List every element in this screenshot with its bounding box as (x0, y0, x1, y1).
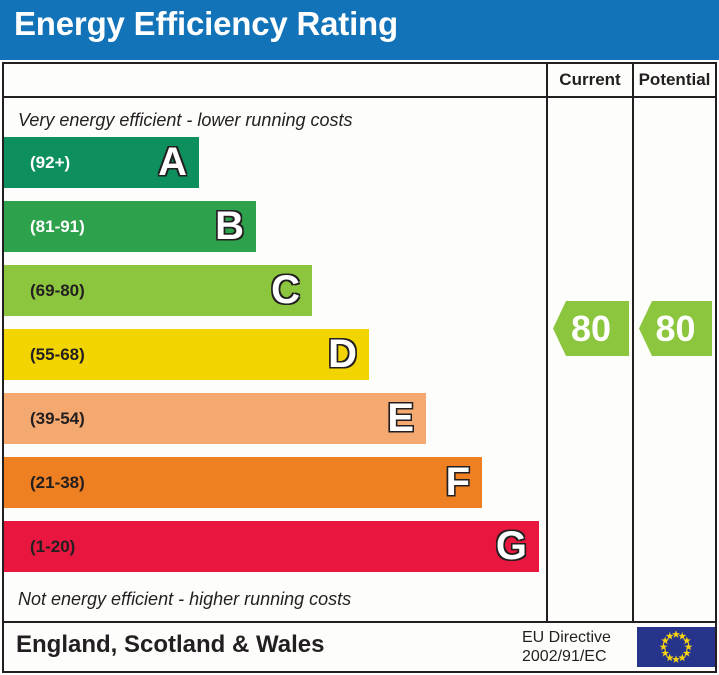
column-header-row: Current Potential (4, 64, 715, 98)
band-f: (21-38) F (4, 457, 482, 508)
band-c: (69-80) C (4, 265, 312, 316)
band-f-letter: F (446, 457, 470, 508)
title-bar: Energy Efficiency Rating (0, 0, 719, 60)
footer-directive: EU Directive 2002/91/EC (522, 628, 611, 666)
chart-frame: Current Potential Very energy efficient … (2, 62, 717, 673)
band-b-letter: B (215, 201, 244, 252)
column-divider-current (546, 98, 548, 625)
band-g-range: (1-20) (30, 521, 75, 572)
band-g: (1-20) G (4, 521, 539, 572)
band-e: (39-54) E (4, 393, 426, 444)
band-b-range: (81-91) (30, 201, 85, 252)
column-divider-potential (632, 98, 634, 625)
column-header-current: Current (546, 64, 632, 96)
potential-rating-badge: 80 (639, 301, 712, 356)
page-title: Energy Efficiency Rating (14, 5, 398, 43)
band-a-range: (92+) (30, 137, 70, 188)
energy-efficiency-rating-chart: Energy Efficiency Rating Current Potenti… (0, 0, 719, 675)
footer-region-label: England, Scotland & Wales (16, 631, 324, 659)
eu-flag-icon (637, 627, 715, 667)
band-d-range: (55-68) (30, 329, 85, 380)
band-e-range: (39-54) (30, 393, 85, 444)
caption-very-efficient: Very energy efficient - lower running co… (18, 110, 353, 131)
footer-bar: England, Scotland & Wales EU Directive 2… (4, 621, 715, 671)
band-f-range: (21-38) (30, 457, 85, 508)
band-c-letter: C (271, 265, 300, 316)
column-header-potential: Potential (632, 64, 715, 96)
band-a: (92+) A (4, 137, 199, 188)
footer-directive-line1: EU Directive (522, 628, 611, 647)
footer-directive-line2: 2002/91/EC (522, 647, 611, 666)
band-d: (55-68) D (4, 329, 369, 380)
rating-bands: (92+) A (81-91) B (69-80) C (55-68) D (3… (4, 137, 544, 585)
band-g-letter: G (496, 521, 527, 572)
band-a-letter: A (158, 137, 187, 188)
band-b: (81-91) B (4, 201, 256, 252)
current-rating-badge: 80 (553, 301, 629, 356)
band-c-range: (69-80) (30, 265, 85, 316)
band-e-letter: E (387, 393, 414, 444)
caption-not-efficient: Not energy efficient - higher running co… (18, 589, 351, 610)
band-d-letter: D (328, 329, 357, 380)
